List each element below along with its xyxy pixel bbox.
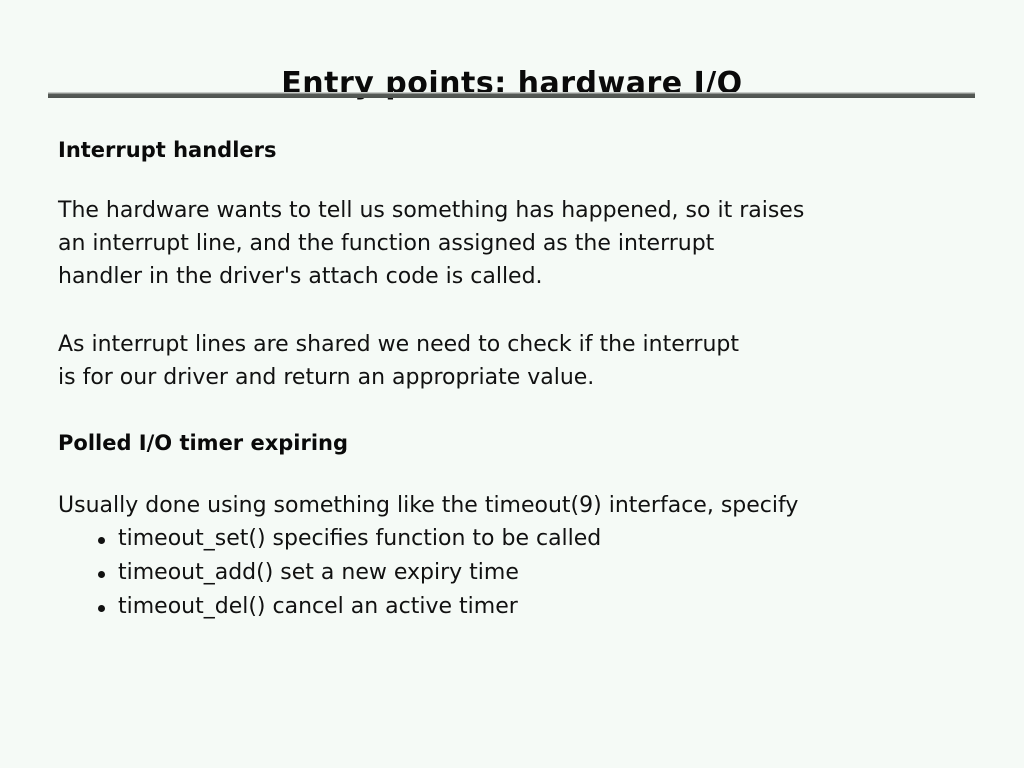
paragraph-line: an interrupt line, and the function assi… bbox=[58, 227, 804, 260]
list-item: timeout_set() specifies function to be c… bbox=[96, 522, 601, 556]
bullet-dot-icon bbox=[98, 571, 105, 578]
section-heading-polled-io-timer-expiring: Polled I/O timer expiring bbox=[58, 431, 348, 455]
list-item-label: timeout_del() cancel an active timer bbox=[118, 594, 518, 619]
paragraph-interrupt-handlers: The hardware wants to tell us something … bbox=[58, 194, 804, 293]
bullet-dot-icon bbox=[98, 537, 105, 544]
paragraph-line: Usually done using something like the ti… bbox=[58, 489, 798, 522]
paragraph-shared-interrupt-lines: As interrupt lines are shared we need to… bbox=[58, 328, 739, 394]
paragraph-line: is for our driver and return an appropri… bbox=[58, 361, 739, 394]
list-item-label: timeout_set() specifies function to be c… bbox=[118, 526, 601, 551]
slide: Entry points: hardware I/O Interrupt han… bbox=[0, 0, 1024, 768]
title-divider bbox=[48, 92, 975, 98]
section-heading-interrupt-handlers: Interrupt handlers bbox=[58, 138, 277, 162]
paragraph-line: The hardware wants to tell us something … bbox=[58, 194, 804, 227]
list-item-label: timeout_add() set a new expiry time bbox=[118, 560, 519, 585]
paragraph-line: As interrupt lines are shared we need to… bbox=[58, 328, 739, 361]
paragraph-timeout-interface: Usually done using something like the ti… bbox=[58, 489, 798, 522]
paragraph-line: handler in the driver's attach code is c… bbox=[58, 260, 804, 293]
list-item: timeout_del() cancel an active timer bbox=[96, 590, 601, 624]
bullet-dot-icon bbox=[98, 605, 105, 612]
bullet-list-timeout-functions: timeout_set() specifies function to be c… bbox=[96, 522, 601, 624]
list-item: timeout_add() set a new expiry time bbox=[96, 556, 601, 590]
